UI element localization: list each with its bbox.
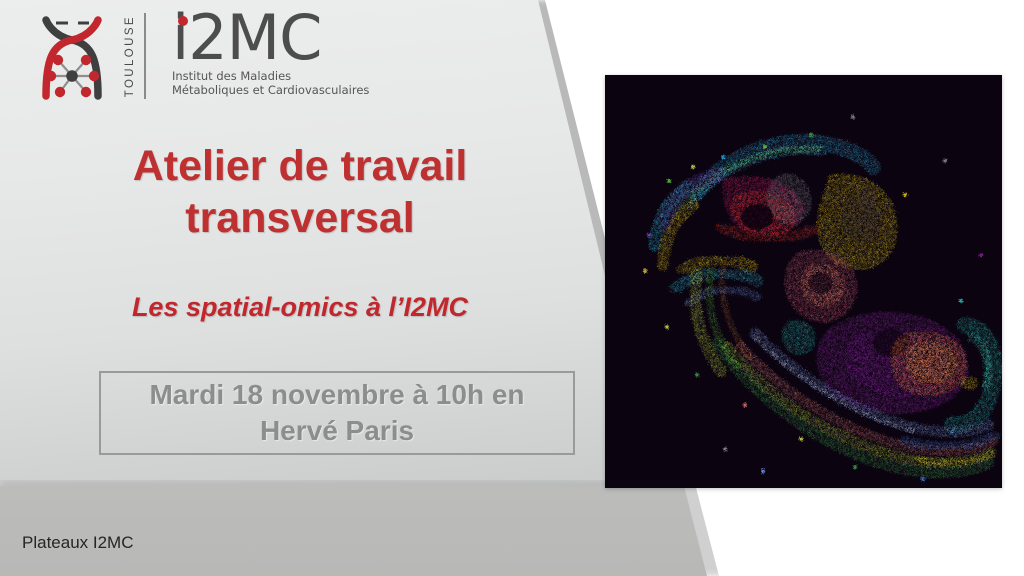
logo-city-label: TOULOUSE — [124, 15, 136, 97]
logo-wordmark-text: i2MC — [172, 1, 321, 74]
slide-subtitle: Les spatial-omics à l’I2MC — [60, 290, 540, 324]
event-details-text: Mardi 18 novembre à 10h en Hervé Paris — [149, 377, 524, 449]
footer-label: Plateaux I2MC — [22, 533, 134, 553]
event-location-line: Hervé Paris — [149, 413, 524, 449]
embryo-cluster-scatter — [605, 75, 1002, 488]
event-details-box: Mardi 18 novembre à 10h en Hervé Paris — [99, 371, 575, 455]
logo-i-dot-icon — [178, 16, 188, 26]
logo-wordmark-block: i2MC Institut des Maladies Métaboliques … — [172, 8, 369, 97]
slide-title: Atelier de travail transversal — [60, 140, 540, 244]
logo-toulouse-block: TOULOUSE — [124, 12, 146, 100]
event-date-line: Mardi 18 novembre à 10h en — [149, 377, 524, 413]
i2mc-logo: TOULOUSE i2MC Institut des Maladies Méta… — [26, 8, 386, 108]
dna-helix-network-icon — [26, 10, 118, 102]
logo-wordmark: i2MC — [172, 8, 369, 68]
logo-tagline-line2: Métaboliques et Cardiovasculaires — [172, 84, 369, 98]
spatial-omics-embryo-figure — [605, 75, 1002, 488]
slide-root: TOULOUSE i2MC Institut des Maladies Méta… — [0, 0, 1024, 576]
footer-band — [0, 486, 800, 576]
logo-tagline: Institut des Maladies Métaboliques et Ca… — [172, 70, 369, 97]
logo-divider-rule — [144, 13, 146, 99]
